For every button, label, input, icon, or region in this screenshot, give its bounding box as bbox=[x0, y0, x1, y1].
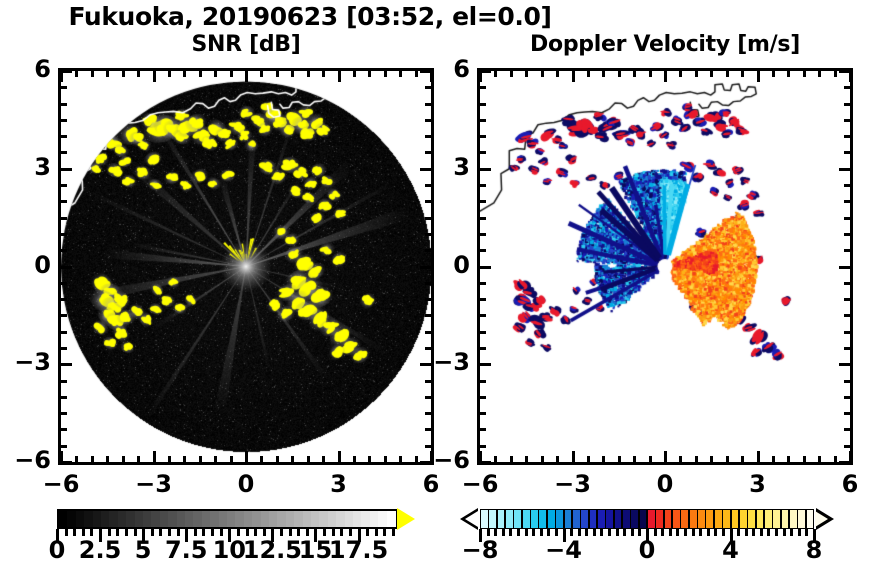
xtick-1-2 bbox=[510, 456, 513, 462]
xtick-1-19 bbox=[772, 456, 775, 462]
xtick-label-snr-3: 3 bbox=[299, 470, 379, 498]
xtick-top-0-20 bbox=[368, 71, 371, 77]
ytick-right-0-9 bbox=[425, 217, 431, 220]
doppler-colorbar-tick-29 bbox=[699, 529, 702, 536]
ytick-right-0-8 bbox=[425, 200, 431, 203]
doppler-colorbar-tick-2 bbox=[494, 529, 497, 536]
doppler-colorbar-tick-34 bbox=[737, 529, 740, 536]
ytick-right-1-5 bbox=[844, 151, 850, 154]
doppler-colorbar-tick-20 bbox=[631, 529, 634, 536]
ytick-0-8 bbox=[61, 200, 67, 203]
snr-colorbar-tick-3 bbox=[82, 529, 85, 536]
snr-colorbar-tick-37 bbox=[375, 529, 378, 536]
ytick-label-snr-2: 0 bbox=[0, 251, 51, 279]
doppler-colorbar-tick-42 bbox=[798, 529, 801, 536]
doppler-colorbar-tick-6 bbox=[525, 529, 528, 536]
xtick-0-5 bbox=[137, 456, 140, 462]
xtick-0-18 bbox=[338, 451, 341, 462]
doppler-colorbar-tick-27 bbox=[684, 529, 687, 536]
ytick-1-17 bbox=[480, 347, 486, 350]
doppler-colorbar-tick-5 bbox=[517, 529, 520, 536]
xtick-0-12 bbox=[245, 451, 248, 462]
doppler-panel-title: Doppler Velocity [m/s] bbox=[477, 32, 853, 57]
ytick-0-13 bbox=[61, 282, 67, 285]
xtick-0-21 bbox=[384, 456, 387, 462]
xtick-top-0-14 bbox=[276, 71, 279, 77]
xtick-0-16 bbox=[307, 456, 310, 462]
ytick-right-1-4 bbox=[844, 135, 850, 138]
xtick-top-0-16 bbox=[307, 71, 310, 77]
doppler-colorbar-label-2: 0 bbox=[605, 536, 689, 564]
xtick-top-1-8 bbox=[602, 71, 605, 77]
doppler-colorbar-tick-21 bbox=[638, 529, 641, 536]
doppler-colorbar-under-arrow-fill bbox=[465, 511, 478, 527]
doppler-colorbar-tick-7 bbox=[532, 529, 535, 536]
doppler-colorbar-tick-3 bbox=[502, 529, 505, 536]
ytick-right-0-20 bbox=[425, 396, 431, 399]
doppler-colorbar-tick-4 bbox=[509, 529, 512, 536]
xtick-label-snr-1: −3 bbox=[114, 470, 194, 498]
doppler-colorbar-tick-10 bbox=[555, 529, 558, 536]
snr-colorbar-tick-28 bbox=[297, 529, 300, 536]
ytick-right-1-20 bbox=[844, 396, 850, 399]
xtick-top-0-19 bbox=[353, 71, 356, 77]
ytick-0-15 bbox=[61, 314, 67, 317]
ytick-right-0-7 bbox=[425, 184, 431, 187]
ytick-1-16 bbox=[480, 331, 486, 334]
doppler-colorbar-label-3: 4 bbox=[689, 536, 773, 564]
ytick-0-20 bbox=[61, 396, 67, 399]
snr-colorbar-tick-27 bbox=[289, 529, 292, 536]
ytick-1-6 bbox=[480, 168, 491, 171]
xtick-top-0-17 bbox=[322, 71, 325, 77]
xtick-top-1-18 bbox=[757, 71, 760, 82]
ytick-right-1-13 bbox=[844, 282, 850, 285]
doppler-colorbar-tick-38 bbox=[767, 529, 770, 536]
snr-colorbar-tick-34 bbox=[349, 529, 352, 536]
ytick-right-1-18 bbox=[839, 363, 850, 366]
snr-colorbar-tick-18 bbox=[211, 529, 214, 536]
xtick-1-4 bbox=[541, 456, 544, 462]
ytick-right-0-19 bbox=[425, 380, 431, 383]
snr-colorbar-tick-36 bbox=[366, 529, 369, 536]
ytick-right-1-9 bbox=[844, 217, 850, 220]
xtick-0-19 bbox=[353, 456, 356, 462]
ytick-right-0-22 bbox=[425, 428, 431, 431]
xtick-1-12 bbox=[664, 451, 667, 462]
xtick-top-0-12 bbox=[245, 71, 248, 82]
doppler-colorbar-tick-40 bbox=[783, 529, 786, 536]
xtick-top-0-7 bbox=[168, 71, 171, 77]
snr-colorbar-tick-21 bbox=[237, 529, 240, 536]
ytick-1-5 bbox=[480, 151, 486, 154]
ytick-right-1-10 bbox=[844, 233, 850, 236]
ytick-right-1-23 bbox=[844, 445, 850, 448]
xtick-1-22 bbox=[818, 456, 821, 462]
ytick-0-23 bbox=[61, 445, 67, 448]
doppler-colorbar-tick-19 bbox=[623, 529, 626, 536]
xtick-top-1-23 bbox=[834, 71, 837, 77]
doppler-plot-area[interactable] bbox=[477, 68, 853, 465]
snr-colorbar-tick-7 bbox=[116, 529, 119, 536]
ytick-right-1-2 bbox=[844, 103, 850, 106]
doppler-colorbar-tick-17 bbox=[608, 529, 611, 536]
doppler-plot-canvas-clip bbox=[480, 71, 850, 462]
ytick-right-0-2 bbox=[425, 103, 431, 106]
xtick-1-17 bbox=[741, 456, 744, 462]
xtick-1-6 bbox=[572, 451, 575, 462]
xtick-top-1-12 bbox=[664, 71, 667, 82]
xtick-0-8 bbox=[183, 456, 186, 462]
snr-colorbar-tick-2 bbox=[73, 529, 76, 536]
doppler-colorbar-tick-25 bbox=[669, 529, 672, 536]
ytick-1-3 bbox=[480, 119, 486, 122]
ytick-label-doppler-3: −3 bbox=[390, 348, 470, 376]
ytick-1-7 bbox=[480, 184, 486, 187]
xtick-top-1-14 bbox=[695, 71, 698, 77]
xtick-top-1-22 bbox=[818, 71, 821, 77]
snr-colorbar-tick-22 bbox=[246, 529, 249, 536]
doppler-colorbar-label-0: −8 bbox=[438, 536, 522, 564]
xtick-top-1-4 bbox=[541, 71, 544, 77]
ytick-right-1-12 bbox=[839, 266, 850, 269]
xtick-top-0-2 bbox=[91, 71, 94, 77]
snr-colorbar-label-7: 17.5 bbox=[317, 536, 401, 564]
xtick-1-10 bbox=[633, 456, 636, 462]
ytick-0-22 bbox=[61, 428, 67, 431]
ytick-right-1-14 bbox=[844, 298, 850, 301]
ytick-right-1-15 bbox=[844, 314, 850, 317]
snr-colorbar-over-arrow bbox=[397, 508, 415, 530]
snr-colorbar-tick-23 bbox=[254, 529, 257, 536]
xtick-0-20 bbox=[368, 456, 371, 462]
ytick-right-1-1 bbox=[844, 86, 850, 89]
snr-panel-title: SNR [dB] bbox=[58, 32, 434, 57]
ytick-right-1-24 bbox=[839, 461, 850, 464]
xtick-1-1 bbox=[494, 456, 497, 462]
xtick-0-6 bbox=[153, 451, 156, 462]
ytick-right-1-22 bbox=[844, 428, 850, 431]
ytick-1-9 bbox=[480, 217, 486, 220]
xtick-1-18 bbox=[757, 451, 760, 462]
xtick-top-1-15 bbox=[710, 71, 713, 77]
xtick-top-0-5 bbox=[137, 71, 140, 77]
doppler-colorbar-tick-18 bbox=[616, 529, 619, 536]
ytick-right-1-3 bbox=[844, 119, 850, 122]
xtick-top-1-21 bbox=[803, 71, 806, 77]
doppler-colorbar-tick-39 bbox=[775, 529, 778, 536]
snr-colorbar-tick-6 bbox=[108, 529, 111, 536]
ytick-right-1-21 bbox=[844, 412, 850, 415]
snr-colorbar-tick-38 bbox=[383, 529, 386, 536]
xtick-top-1-20 bbox=[787, 71, 790, 77]
xtick-1-7 bbox=[587, 456, 590, 462]
xtick-label-doppler-2: 0 bbox=[625, 470, 705, 498]
ytick-0-4 bbox=[61, 135, 67, 138]
ytick-1-20 bbox=[480, 396, 486, 399]
ytick-label-doppler-1: 3 bbox=[390, 153, 470, 181]
xtick-1-16 bbox=[726, 456, 729, 462]
ytick-right-0-15 bbox=[425, 314, 431, 317]
doppler-colorbar-tick-35 bbox=[745, 529, 748, 536]
doppler-colorbar-tick-36 bbox=[752, 529, 755, 536]
doppler-colorbar-label-1: −4 bbox=[522, 536, 606, 564]
snr-colorbar-tick-29 bbox=[306, 529, 309, 536]
doppler-colorbar[interactable] bbox=[477, 509, 817, 529]
snr-plot-canvas-clip bbox=[61, 71, 431, 462]
xtick-0-2 bbox=[91, 456, 94, 462]
ytick-label-doppler-0: 6 bbox=[390, 55, 470, 83]
xtick-top-1-13 bbox=[679, 71, 682, 77]
xtick-top-0-4 bbox=[122, 71, 125, 77]
snr-colorbar-tick-39 bbox=[392, 529, 395, 536]
xtick-top-1-2 bbox=[510, 71, 513, 77]
ytick-1-23 bbox=[480, 445, 486, 448]
ytick-0-24 bbox=[61, 461, 72, 464]
ytick-1-2 bbox=[480, 103, 486, 106]
xtick-top-0-9 bbox=[199, 71, 202, 77]
snr-colorbar-tick-4 bbox=[90, 529, 93, 536]
snr-plot-area[interactable] bbox=[58, 68, 434, 465]
doppler-colorbar-tick-13 bbox=[578, 529, 581, 536]
xtick-top-0-21 bbox=[384, 71, 387, 77]
xtick-0-14 bbox=[276, 456, 279, 462]
doppler-colorbar-tick-15 bbox=[593, 529, 596, 536]
doppler-colorbar-tick-1 bbox=[487, 529, 490, 536]
xtick-top-1-10 bbox=[633, 71, 636, 77]
ytick-right-1-17 bbox=[844, 347, 850, 350]
xtick-top-0-11 bbox=[230, 71, 233, 77]
doppler-colorbar-tick-26 bbox=[676, 529, 679, 536]
xtick-top-0-15 bbox=[291, 71, 294, 77]
snr-colorbar-tick-8 bbox=[125, 529, 128, 536]
xtick-1-13 bbox=[679, 456, 682, 462]
ytick-0-16 bbox=[61, 331, 67, 334]
snr-colorbar-tick-11 bbox=[151, 529, 154, 536]
ytick-1-15 bbox=[480, 314, 486, 317]
xtick-0-7 bbox=[168, 456, 171, 462]
xtick-0-3 bbox=[106, 456, 109, 462]
ytick-1-18 bbox=[480, 363, 491, 366]
snr-colorbar-tick-32 bbox=[332, 529, 335, 536]
ytick-0-12 bbox=[61, 266, 72, 269]
doppler-colorbar-tick-37 bbox=[760, 529, 763, 536]
ytick-0-2 bbox=[61, 103, 67, 106]
xtick-1-20 bbox=[787, 456, 790, 462]
snr-colorbar-body bbox=[57, 509, 397, 529]
xtick-0-9 bbox=[199, 456, 202, 462]
xtick-label-doppler-4: 6 bbox=[810, 470, 870, 498]
snr-colorbar-tick-14 bbox=[177, 529, 180, 536]
snr-colorbar-tick-1 bbox=[65, 529, 68, 536]
xtick-0-11 bbox=[230, 456, 233, 462]
ytick-0-7 bbox=[61, 184, 67, 187]
ytick-1-4 bbox=[480, 135, 486, 138]
snr-colorbar-tick-31 bbox=[323, 529, 326, 536]
ytick-right-0-14 bbox=[425, 298, 431, 301]
doppler-colorbar-tick-41 bbox=[790, 529, 793, 536]
xtick-top-0-3 bbox=[106, 71, 109, 77]
ytick-label-snr-0: 6 bbox=[0, 55, 51, 83]
snr-colorbar[interactable] bbox=[57, 509, 397, 529]
xtick-0-15 bbox=[291, 456, 294, 462]
snr-colorbar-cell bbox=[387, 511, 396, 527]
xtick-label-doppler-1: −3 bbox=[533, 470, 613, 498]
ytick-1-21 bbox=[480, 412, 486, 415]
doppler-colorbar-tick-14 bbox=[585, 529, 588, 536]
xtick-label-snr-2: 0 bbox=[206, 470, 286, 498]
xtick-1-15 bbox=[710, 456, 713, 462]
ytick-0-1 bbox=[61, 86, 67, 89]
snr-colorbar-tick-9 bbox=[134, 529, 137, 536]
ytick-1-1 bbox=[480, 86, 486, 89]
snr-colorbar-tick-26 bbox=[280, 529, 283, 536]
xtick-top-1-24 bbox=[849, 71, 852, 82]
xtick-top-1-19 bbox=[772, 71, 775, 77]
page-title: Fukuoka, 20190623 [03:52, el=0.0] bbox=[0, 2, 620, 31]
xtick-top-1-1 bbox=[494, 71, 497, 77]
ytick-0-10 bbox=[61, 233, 67, 236]
ytick-right-0-10 bbox=[425, 233, 431, 236]
doppler-colorbar-tick-30 bbox=[707, 529, 710, 536]
doppler-colorbar-body bbox=[477, 509, 817, 529]
xtick-top-1-3 bbox=[525, 71, 528, 77]
snr-colorbar-tick-19 bbox=[220, 529, 223, 536]
xtick-top-1-17 bbox=[741, 71, 744, 77]
xtick-top-0-13 bbox=[260, 71, 263, 77]
xtick-top-0-6 bbox=[153, 71, 156, 82]
ytick-right-1-11 bbox=[844, 249, 850, 252]
xtick-1-9 bbox=[618, 456, 621, 462]
xtick-0-4 bbox=[122, 456, 125, 462]
xtick-top-1-6 bbox=[572, 71, 575, 82]
xtick-top-0-10 bbox=[214, 71, 217, 77]
snr-radar-image bbox=[61, 71, 431, 462]
xtick-1-21 bbox=[803, 456, 806, 462]
ytick-1-8 bbox=[480, 200, 486, 203]
ytick-right-1-6 bbox=[839, 168, 850, 171]
ytick-0-0 bbox=[61, 70, 72, 73]
ytick-right-0-4 bbox=[425, 135, 431, 138]
xtick-0-17 bbox=[322, 456, 325, 462]
xtick-top-0-8 bbox=[183, 71, 186, 77]
xtick-1-14 bbox=[695, 456, 698, 462]
ytick-right-0-1 bbox=[425, 86, 431, 89]
ytick-right-1-16 bbox=[844, 331, 850, 334]
xtick-top-0-18 bbox=[338, 71, 341, 82]
doppler-colorbar-cell bbox=[806, 509, 815, 529]
ytick-label-doppler-2: 0 bbox=[390, 251, 470, 279]
doppler-colorbar-over-arrow-fill bbox=[815, 511, 828, 527]
xtick-0-10 bbox=[214, 456, 217, 462]
xtick-1-11 bbox=[649, 456, 652, 462]
ytick-1-22 bbox=[480, 428, 486, 431]
ytick-label-snr-4: −6 bbox=[0, 446, 51, 474]
ytick-0-18 bbox=[61, 363, 72, 366]
ytick-1-11 bbox=[480, 249, 486, 252]
doppler-colorbar-tick-24 bbox=[661, 529, 664, 536]
ytick-label-snr-3: −3 bbox=[0, 348, 51, 376]
xtick-1-23 bbox=[834, 456, 837, 462]
ytick-0-9 bbox=[61, 217, 67, 220]
doppler-colorbar-label-4: 8 bbox=[772, 536, 856, 564]
doppler-colorbar-tick-16 bbox=[600, 529, 603, 536]
xtick-top-0-1 bbox=[75, 71, 78, 77]
ytick-0-5 bbox=[61, 151, 67, 154]
ytick-label-snr-1: 3 bbox=[0, 153, 51, 181]
snr-colorbar-tick-13 bbox=[168, 529, 171, 536]
ytick-right-0-21 bbox=[425, 412, 431, 415]
snr-colorbar-tick-33 bbox=[340, 529, 343, 536]
doppler-colorbar-tick-23 bbox=[654, 529, 657, 536]
ytick-1-13 bbox=[480, 282, 486, 285]
snr-colorbar-tick-12 bbox=[159, 529, 162, 536]
doppler-radar-image bbox=[480, 71, 850, 462]
doppler-colorbar-tick-28 bbox=[692, 529, 695, 536]
ytick-0-11 bbox=[61, 249, 67, 252]
radar-figure: Fukuoka, 20190623 [03:52, el=0.0] SNR [d… bbox=[0, 0, 870, 570]
doppler-colorbar-tick-9 bbox=[547, 529, 550, 536]
xtick-top-1-11 bbox=[649, 71, 652, 77]
xtick-1-5 bbox=[556, 456, 559, 462]
ytick-0-3 bbox=[61, 119, 67, 122]
snr-colorbar-tick-16 bbox=[194, 529, 197, 536]
xtick-1-8 bbox=[602, 456, 605, 462]
doppler-colorbar-tick-31 bbox=[714, 529, 717, 536]
ytick-0-21 bbox=[61, 412, 67, 415]
doppler-colorbar-tick-8 bbox=[540, 529, 543, 536]
ytick-right-0-16 bbox=[425, 331, 431, 334]
ytick-right-0-13 bbox=[425, 282, 431, 285]
xtick-label-doppler-3: 3 bbox=[718, 470, 798, 498]
ytick-right-1-7 bbox=[844, 184, 850, 187]
ytick-0-14 bbox=[61, 298, 67, 301]
ytick-right-1-19 bbox=[844, 380, 850, 383]
doppler-colorbar-tick-12 bbox=[570, 529, 573, 536]
xtick-label-doppler-0: −6 bbox=[440, 470, 520, 498]
ytick-1-19 bbox=[480, 380, 486, 383]
snr-colorbar-tick-24 bbox=[263, 529, 266, 536]
ytick-0-19 bbox=[61, 380, 67, 383]
xtick-top-1-5 bbox=[556, 71, 559, 77]
ytick-1-12 bbox=[480, 266, 491, 269]
ytick-0-17 bbox=[61, 347, 67, 350]
xtick-top-1-9 bbox=[618, 71, 621, 77]
ytick-1-10 bbox=[480, 233, 486, 236]
ytick-0-6 bbox=[61, 168, 72, 171]
xtick-label-snr-0: −6 bbox=[21, 470, 101, 498]
ytick-1-14 bbox=[480, 298, 486, 301]
ytick-label-doppler-4: −6 bbox=[390, 446, 470, 474]
xtick-top-1-7 bbox=[587, 71, 590, 77]
doppler-colorbar-tick-43 bbox=[805, 529, 808, 536]
ytick-right-0-3 bbox=[425, 119, 431, 122]
xtick-0-13 bbox=[260, 456, 263, 462]
xtick-0-1 bbox=[75, 456, 78, 462]
xtick-1-3 bbox=[525, 456, 528, 462]
ytick-right-1-8 bbox=[844, 200, 850, 203]
doppler-colorbar-tick-32 bbox=[722, 529, 725, 536]
snr-colorbar-tick-17 bbox=[202, 529, 205, 536]
ytick-1-0 bbox=[480, 70, 491, 73]
ytick-1-24 bbox=[480, 461, 491, 464]
xtick-top-1-16 bbox=[726, 71, 729, 77]
